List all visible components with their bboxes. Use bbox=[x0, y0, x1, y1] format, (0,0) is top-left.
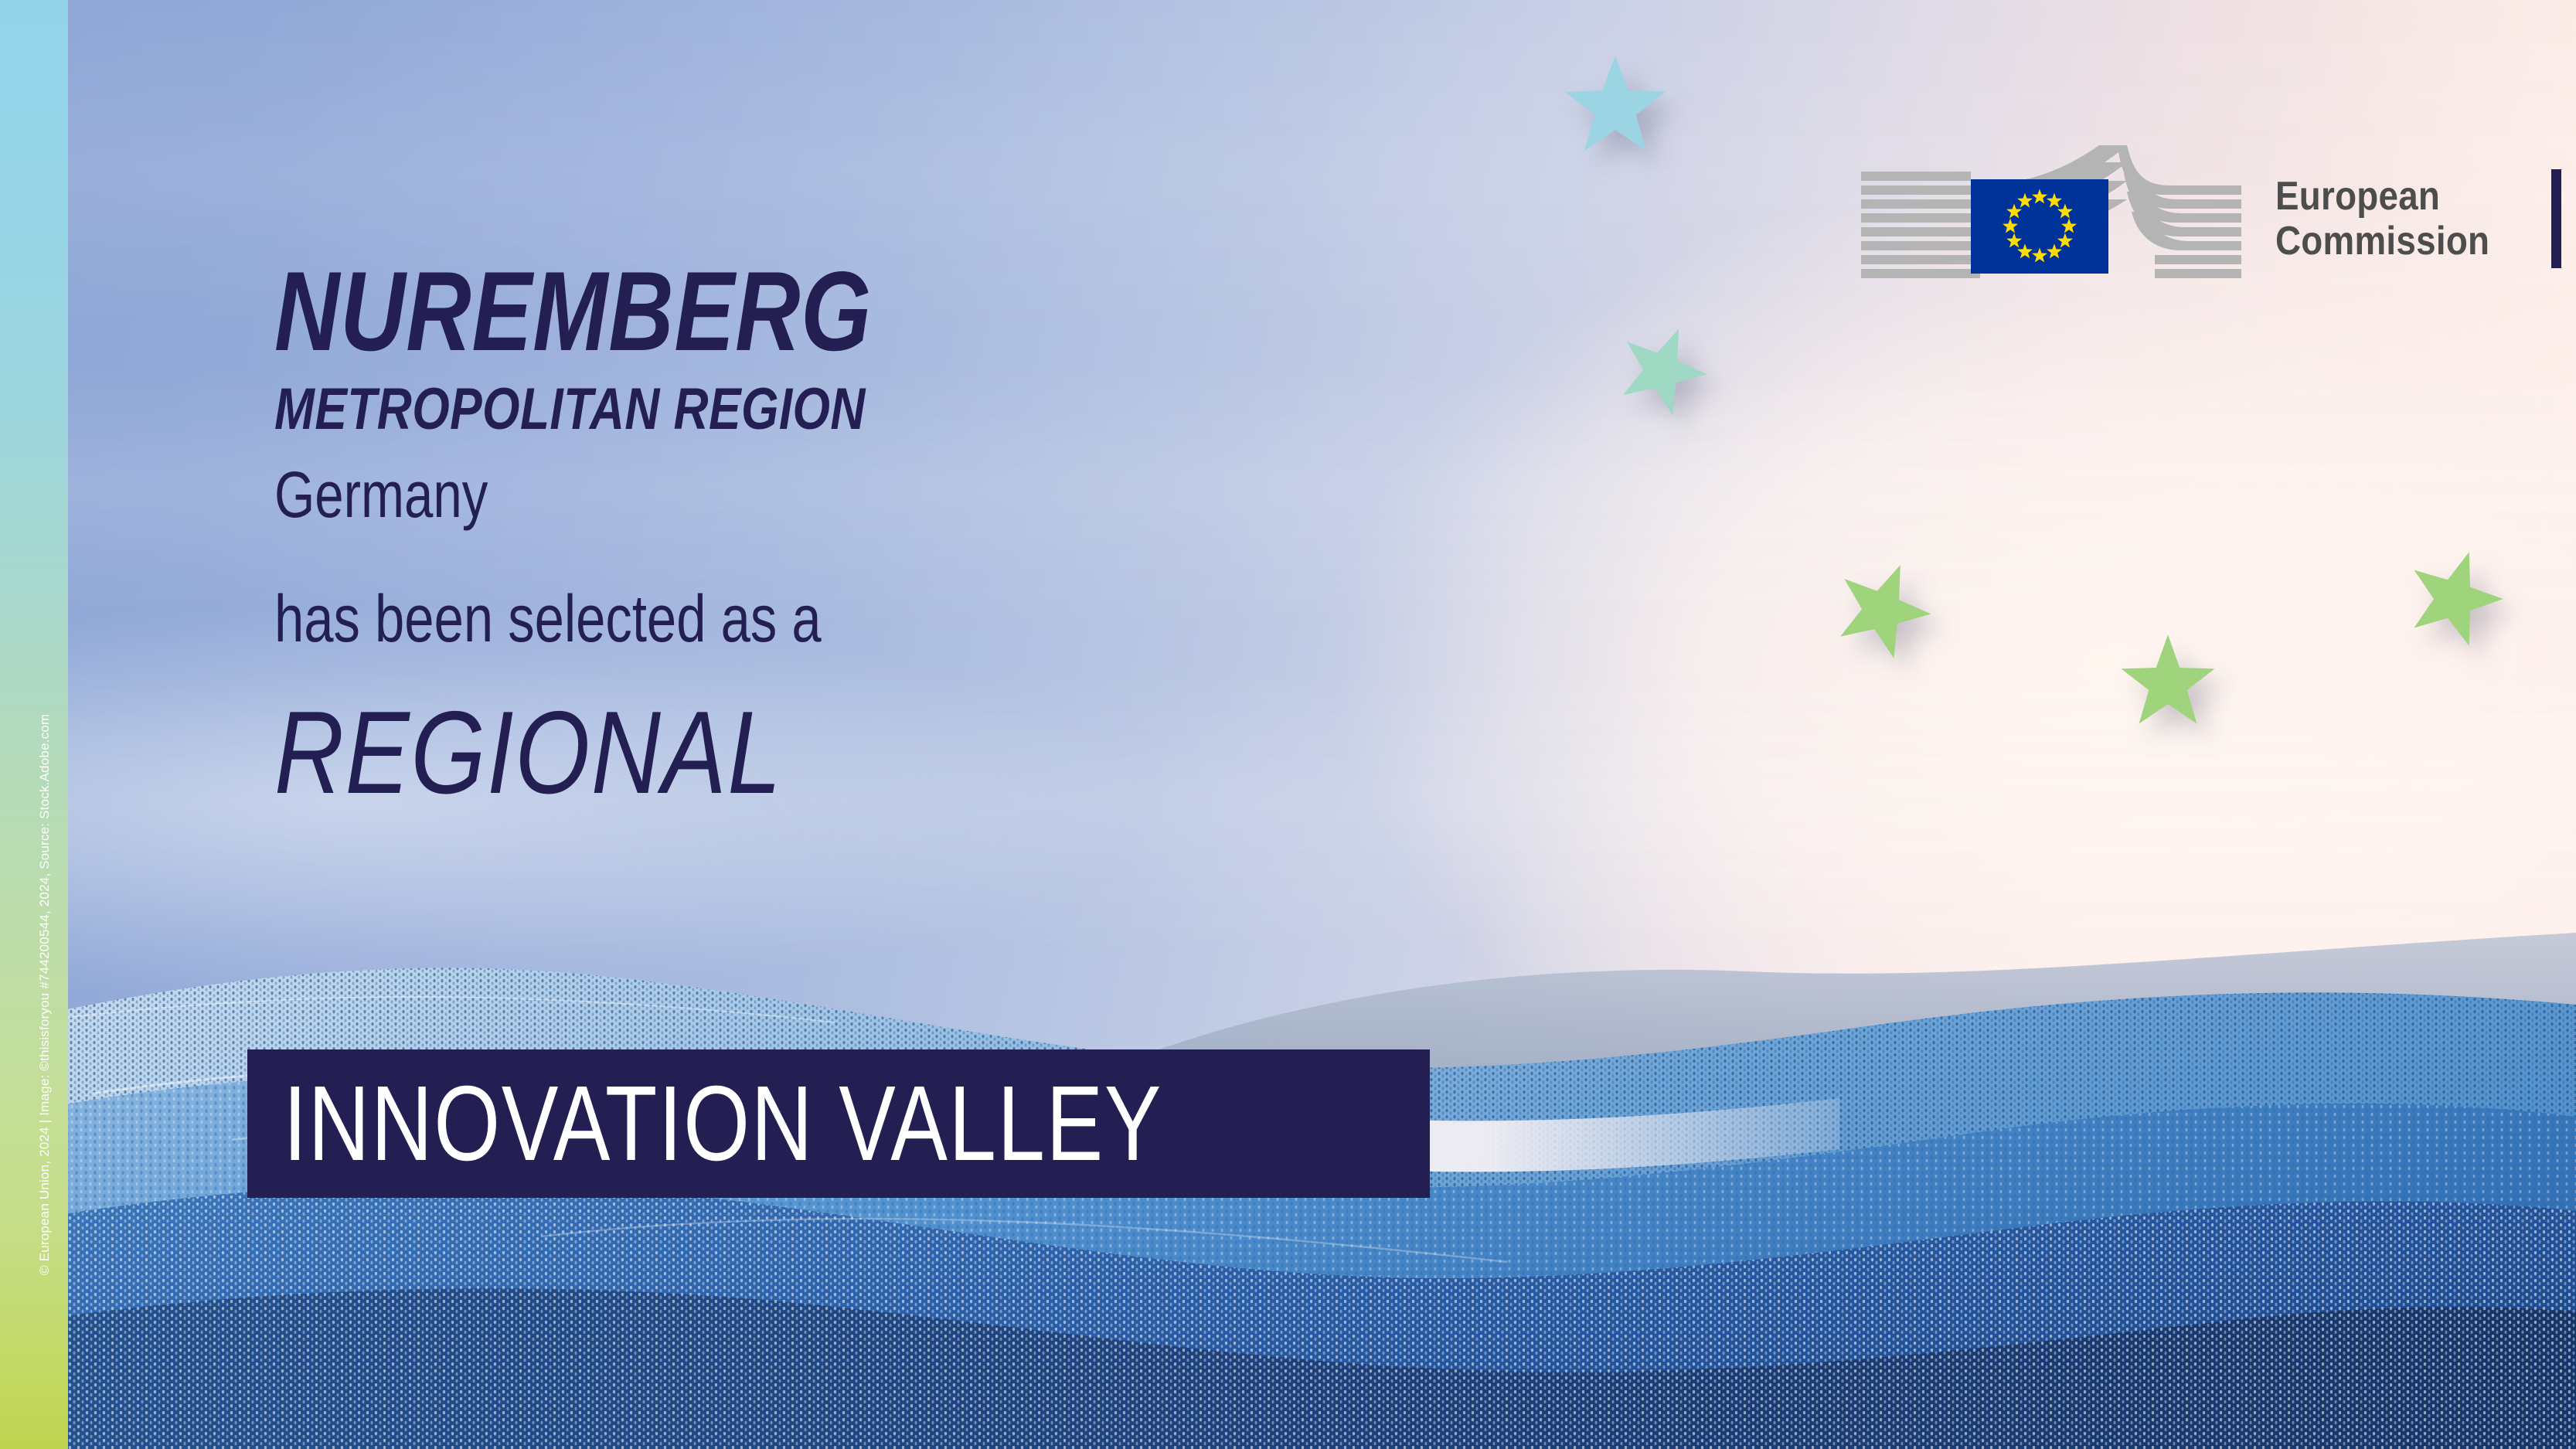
european-commission-wordmark: European Commission bbox=[2275, 174, 2489, 264]
star-green-left-icon bbox=[1832, 560, 1932, 661]
star-green-right-icon bbox=[2404, 549, 2504, 649]
city-name: NUREMBERG bbox=[274, 255, 1325, 368]
logo-line-1: European bbox=[2275, 174, 2489, 219]
left-gradient-stripe bbox=[0, 0, 68, 1449]
award-line-2: INNOVATION VALLEY bbox=[247, 1063, 1162, 1185]
region-label: METROPOLITAN REGION bbox=[274, 379, 1352, 440]
logo-divider-bar bbox=[2551, 169, 2561, 268]
country-name: Germany bbox=[274, 461, 1325, 529]
european-commission-emblem-icon bbox=[1855, 145, 2257, 292]
award-line-1: REGIONAL bbox=[274, 694, 1352, 811]
headline-block: NUREMBERG METROPOLITAN REGION Germany ha… bbox=[274, 255, 1588, 811]
star-green-low-icon bbox=[2118, 634, 2218, 734]
star-blue-top-icon bbox=[1561, 54, 1669, 162]
credit-line: © European Union, 2024 | Image: ©thisisf… bbox=[37, 611, 53, 1275]
award-banner: INNOVATION VALLEY bbox=[247, 1049, 1430, 1198]
star-teal-mid-icon bbox=[1615, 325, 1708, 417]
european-commission-logo: European Commission bbox=[1855, 145, 2561, 292]
banner-graphic: © European Union, 2024 | Image: ©thisisf… bbox=[0, 0, 2576, 1449]
logo-line-2: Commission bbox=[2275, 219, 2489, 264]
statement-line: has been selected as a bbox=[274, 584, 1325, 654]
